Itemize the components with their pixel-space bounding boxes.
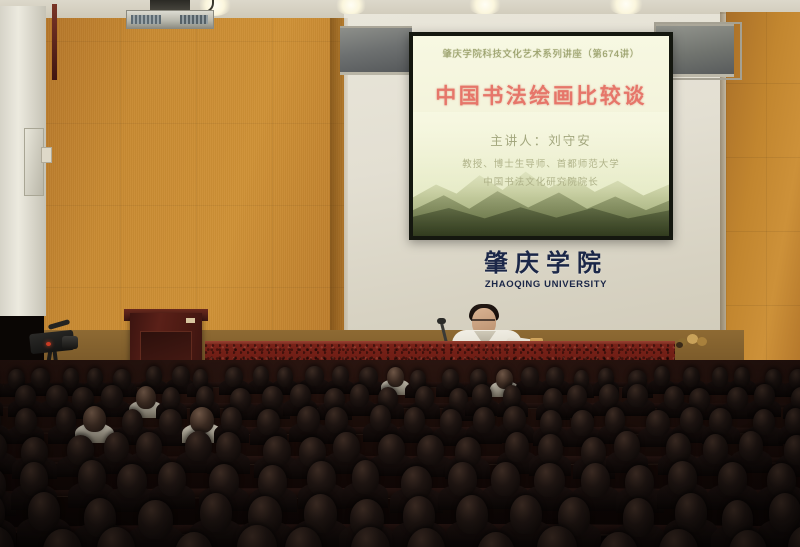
audience-head [785, 408, 800, 434]
slide-title: 中国书法绘画比较谈 [413, 80, 669, 110]
camera-record-led [46, 342, 51, 346]
audience-head [448, 462, 477, 496]
audience-head [417, 435, 444, 465]
audience-head [136, 386, 156, 409]
audience-head [627, 384, 648, 407]
audience-head [789, 369, 800, 389]
projector-vent [180, 15, 208, 24]
audience-head [668, 461, 698, 495]
audience-head [159, 409, 182, 435]
audience-head [546, 367, 565, 387]
audience-head [734, 367, 751, 387]
wall-speaker [24, 128, 44, 196]
audience-head [456, 495, 488, 534]
camera-lens-icon [62, 336, 78, 349]
lecture-hall-photo: 肇庆学院科技文化艺术系列讲座（第674讲） 中国书法绘画比较谈 主讲人：刘守安 … [0, 0, 800, 547]
audience-head [221, 407, 242, 433]
slide-credential-1: 教授、博士生导师、首都师范大学 [413, 156, 669, 170]
audience-head [225, 367, 243, 387]
audience-head [567, 385, 588, 408]
ceiling-projector-icon [126, 10, 214, 29]
audience-head [117, 464, 146, 498]
audience-head [200, 493, 232, 532]
audience-head [521, 367, 539, 387]
lectern-edge-stripe [52, 4, 57, 80]
audience-head [605, 407, 626, 433]
audience-head [253, 366, 269, 386]
audience-head [305, 366, 324, 386]
flower-arrangement [676, 334, 710, 348]
eyeglasses-icon [471, 319, 495, 326]
audience-head [712, 367, 729, 387]
audience-head [258, 465, 287, 499]
audience-head [784, 435, 800, 465]
audience-head [307, 461, 336, 495]
audience-head [625, 465, 654, 499]
university-logo: 肇庆学院 ZHAOQING UNIVERSITY [476, 252, 616, 290]
audience-head [754, 384, 774, 407]
slide-header-text: 肇庆学院科技文化艺术系列讲座（第674讲） [413, 46, 669, 60]
audience-head [767, 463, 796, 497]
university-name-english: ZHAOQING UNIVERSITY [476, 279, 616, 290]
audience-head [769, 493, 800, 532]
audience-head [257, 409, 279, 435]
audience-head [46, 385, 68, 408]
audience-head [440, 409, 462, 435]
projection-screen: 肇庆学院科技文化艺术系列讲座（第674讲） 中国书法绘画比较谈 主讲人：刘守安 … [409, 32, 673, 240]
audience-head [683, 367, 700, 387]
audience-head [510, 495, 542, 534]
audience-head [78, 460, 106, 494]
audience-head [20, 462, 47, 496]
audience-head [15, 385, 36, 408]
audience-head [101, 385, 122, 408]
audience-head [503, 385, 521, 408]
audience-head [505, 432, 530, 462]
microphone-icon [437, 318, 446, 324]
audience-area [0, 360, 800, 547]
audience-head [472, 384, 493, 407]
audience-head [404, 407, 425, 433]
audience-head [136, 432, 162, 462]
audience-head [753, 409, 775, 435]
audience-head [538, 434, 563, 464]
audience-head [599, 384, 619, 407]
audience-head [332, 366, 349, 386]
audience-head [263, 436, 291, 466]
audience-head [503, 406, 525, 432]
audience-head [304, 494, 337, 533]
audience-head [352, 460, 379, 494]
audience-head [350, 384, 369, 407]
university-name-chinese: 肇庆学院 [476, 252, 616, 276]
audience-head [104, 432, 129, 462]
audience-head [675, 493, 707, 532]
audience-head [31, 368, 50, 388]
audience-head [162, 387, 180, 410]
audience-head [415, 386, 434, 409]
audience-head [146, 366, 162, 386]
audience-head [277, 367, 293, 387]
audience-head [83, 406, 106, 432]
audience-head [654, 366, 670, 386]
audience-head [703, 434, 728, 464]
upper-wall-panel-left [340, 26, 412, 75]
audience-head [491, 462, 520, 496]
audience-head [614, 431, 639, 461]
audience-head [196, 386, 214, 409]
lectern-indicator-light [186, 318, 195, 323]
audience-head [534, 463, 565, 497]
audience-head [122, 409, 143, 435]
slide-surface: 肇庆学院科技文化艺术系列讲座（第674讲） 中国书法绘画比较谈 主讲人：刘守安 … [413, 36, 669, 236]
audience-head [63, 368, 80, 388]
audience-head [718, 462, 748, 496]
audience-head [333, 432, 359, 462]
audience-head [15, 408, 37, 434]
audience-head [623, 498, 655, 537]
audience-head [190, 407, 214, 433]
audience-head [28, 492, 61, 531]
audience-head [325, 407, 348, 433]
audience-head [262, 386, 283, 409]
audience-head [646, 410, 669, 436]
audience-head [666, 433, 691, 463]
slide-credential-2: 中国书法文化研究院院长 [413, 174, 669, 188]
audience-head [664, 386, 684, 409]
audience-head [378, 434, 405, 464]
audience-head [216, 432, 242, 462]
audience-head [571, 410, 593, 436]
audience-head [540, 410, 562, 436]
audience-head [709, 408, 732, 434]
audience-head [158, 462, 185, 496]
audience-head [387, 367, 404, 387]
audience-head [739, 431, 764, 461]
audience-head [473, 407, 494, 433]
audience-head [442, 369, 459, 389]
audience-head [297, 406, 320, 432]
audience-head [680, 407, 703, 433]
audience-head [727, 387, 748, 410]
audience-head [138, 500, 172, 539]
audience-head [581, 463, 610, 497]
audience-head [172, 366, 189, 386]
audience-head [401, 466, 432, 500]
audience-head [370, 405, 391, 431]
slide-presenter-line: 主讲人：刘守安 [413, 130, 669, 149]
projector-vent [131, 15, 161, 24]
audience-head [56, 407, 77, 433]
audience-head [290, 384, 310, 407]
audience-head [185, 431, 212, 461]
